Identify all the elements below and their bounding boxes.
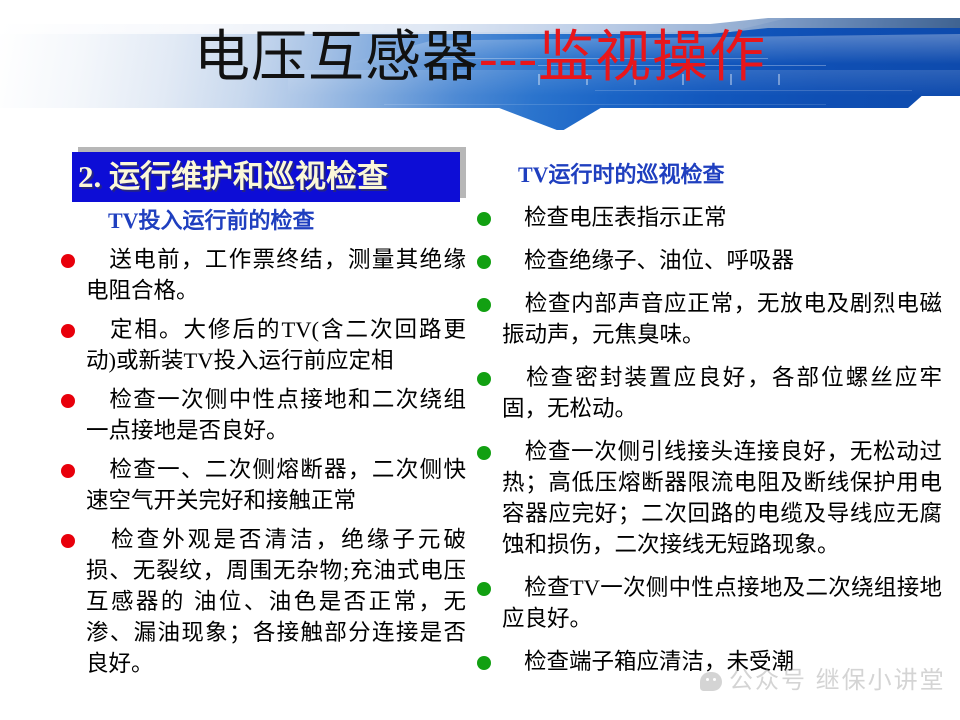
right-column-heading: TV运行时的巡视检查: [472, 160, 942, 190]
green-dot-bullet-icon: [477, 298, 491, 312]
slide-canvas: 电压互感器---监视操作 2. 运行维护和巡视检查 TV投入运行前的检查 送电前…: [0, 0, 960, 720]
section-heading-text: 2. 运行维护和巡视检查: [78, 160, 388, 194]
left-bullet-list: 送电前，工作票终结，测量其绝缘电阻合格。 定相。大修后的TV(含二次回路更动)或…: [56, 244, 466, 679]
list-item: 检查外观是否清洁，绝缘子元破损、无裂纹，周围无杂物;充油式电压互感器的 油位、油…: [56, 524, 466, 679]
list-item: 定相。大修后的TV(含二次回路更动)或新装TV投入运行前应定相: [56, 314, 466, 376]
list-item-text: 检查外观是否清洁，绝缘子元破损、无裂纹，周围无杂物;充油式电压互感器的 油位、油…: [86, 524, 466, 679]
list-item: 检查一次侧中性点接地和二次绕组一点接地是否良好。: [56, 384, 466, 446]
list-item-text: 检查一次侧中性点接地和二次绕组一点接地是否良好。: [86, 384, 466, 446]
green-dot-bullet-icon: [477, 446, 491, 460]
list-item-text: 检查绝缘子、油位、呼吸器: [502, 245, 942, 276]
green-dot-bullet-icon: [477, 656, 491, 670]
page-title: 电压互感器---监视操作: [0, 22, 960, 94]
section-heading-box: 2. 运行维护和巡视检查: [72, 152, 460, 202]
left-column-heading: TV投入运行前的检查: [56, 206, 466, 236]
list-item-text: 检查一次侧引线接头连接良好，无松动过热；高低压熔断器限流电阻及断线保护用电容器应…: [502, 436, 942, 560]
green-dot-bullet-icon: [477, 372, 491, 386]
list-item: 检查端子箱应清洁，未受潮: [472, 646, 942, 677]
list-item-text: 检查一、二次侧熔断器，二次侧快速空气开关完好和接触正常: [86, 454, 466, 516]
list-item: 检查TV一次侧中性点接地及二次绕组接地应良好。: [472, 572, 942, 634]
list-item-text: 检查密封装置应良好，各部位螺丝应牢固，无松动。: [502, 362, 942, 424]
list-item: 检查一次侧引线接头连接良好，无松动过热；高低压熔断器限流电阻及断线保护用电容器应…: [472, 436, 942, 560]
list-item: 检查绝缘子、油位、呼吸器: [472, 245, 942, 276]
green-dot-bullet-icon: [477, 212, 491, 226]
list-item-text: 检查电压表指示正常: [502, 202, 942, 233]
list-item: 检查一、二次侧熔断器，二次侧快速空气开关完好和接触正常: [56, 454, 466, 516]
list-item-text: 检查TV一次侧中性点接地及二次绕组接地应良好。: [502, 572, 942, 634]
green-dot-bullet-icon: [477, 582, 491, 596]
red-dot-bullet-icon: [61, 324, 75, 338]
red-dot-bullet-icon: [61, 254, 75, 268]
list-item: 检查电压表指示正常: [472, 202, 942, 233]
list-item: 检查内部声音应正常，无放电及剧烈电磁振动声，元焦臭味。: [472, 288, 942, 350]
right-column: TV运行时的巡视检查 检查电压表指示正常 检查绝缘子、油位、呼吸器 检查内部声音…: [472, 160, 942, 677]
left-column: TV投入运行前的检查 送电前，工作票终结，测量其绝缘电阻合格。 定相。大修后的T…: [56, 206, 466, 679]
page-title-accent: ---监视操作: [479, 27, 766, 89]
red-dot-bullet-icon: [61, 394, 75, 408]
list-item-text: 检查内部声音应正常，无放电及剧烈电磁振动声，元焦臭味。: [502, 288, 942, 350]
list-item-text: 检查端子箱应清洁，未受潮: [502, 646, 942, 677]
red-dot-bullet-icon: [61, 464, 75, 478]
green-dot-bullet-icon: [477, 255, 491, 269]
red-dot-bullet-icon: [61, 534, 75, 548]
list-item: 检查密封装置应良好，各部位螺丝应牢固，无松动。: [472, 362, 942, 424]
list-item: 送电前，工作票终结，测量其绝缘电阻合格。: [56, 244, 466, 306]
right-bullet-list: 检查电压表指示正常 检查绝缘子、油位、呼吸器 检查内部声音应正常，无放电及剧烈电…: [472, 202, 942, 677]
list-item-text: 定相。大修后的TV(含二次回路更动)或新装TV投入运行前应定相: [86, 314, 466, 376]
page-title-main: 电压互感器: [194, 27, 479, 89]
list-item-text: 送电前，工作票终结，测量其绝缘电阻合格。: [86, 244, 466, 306]
